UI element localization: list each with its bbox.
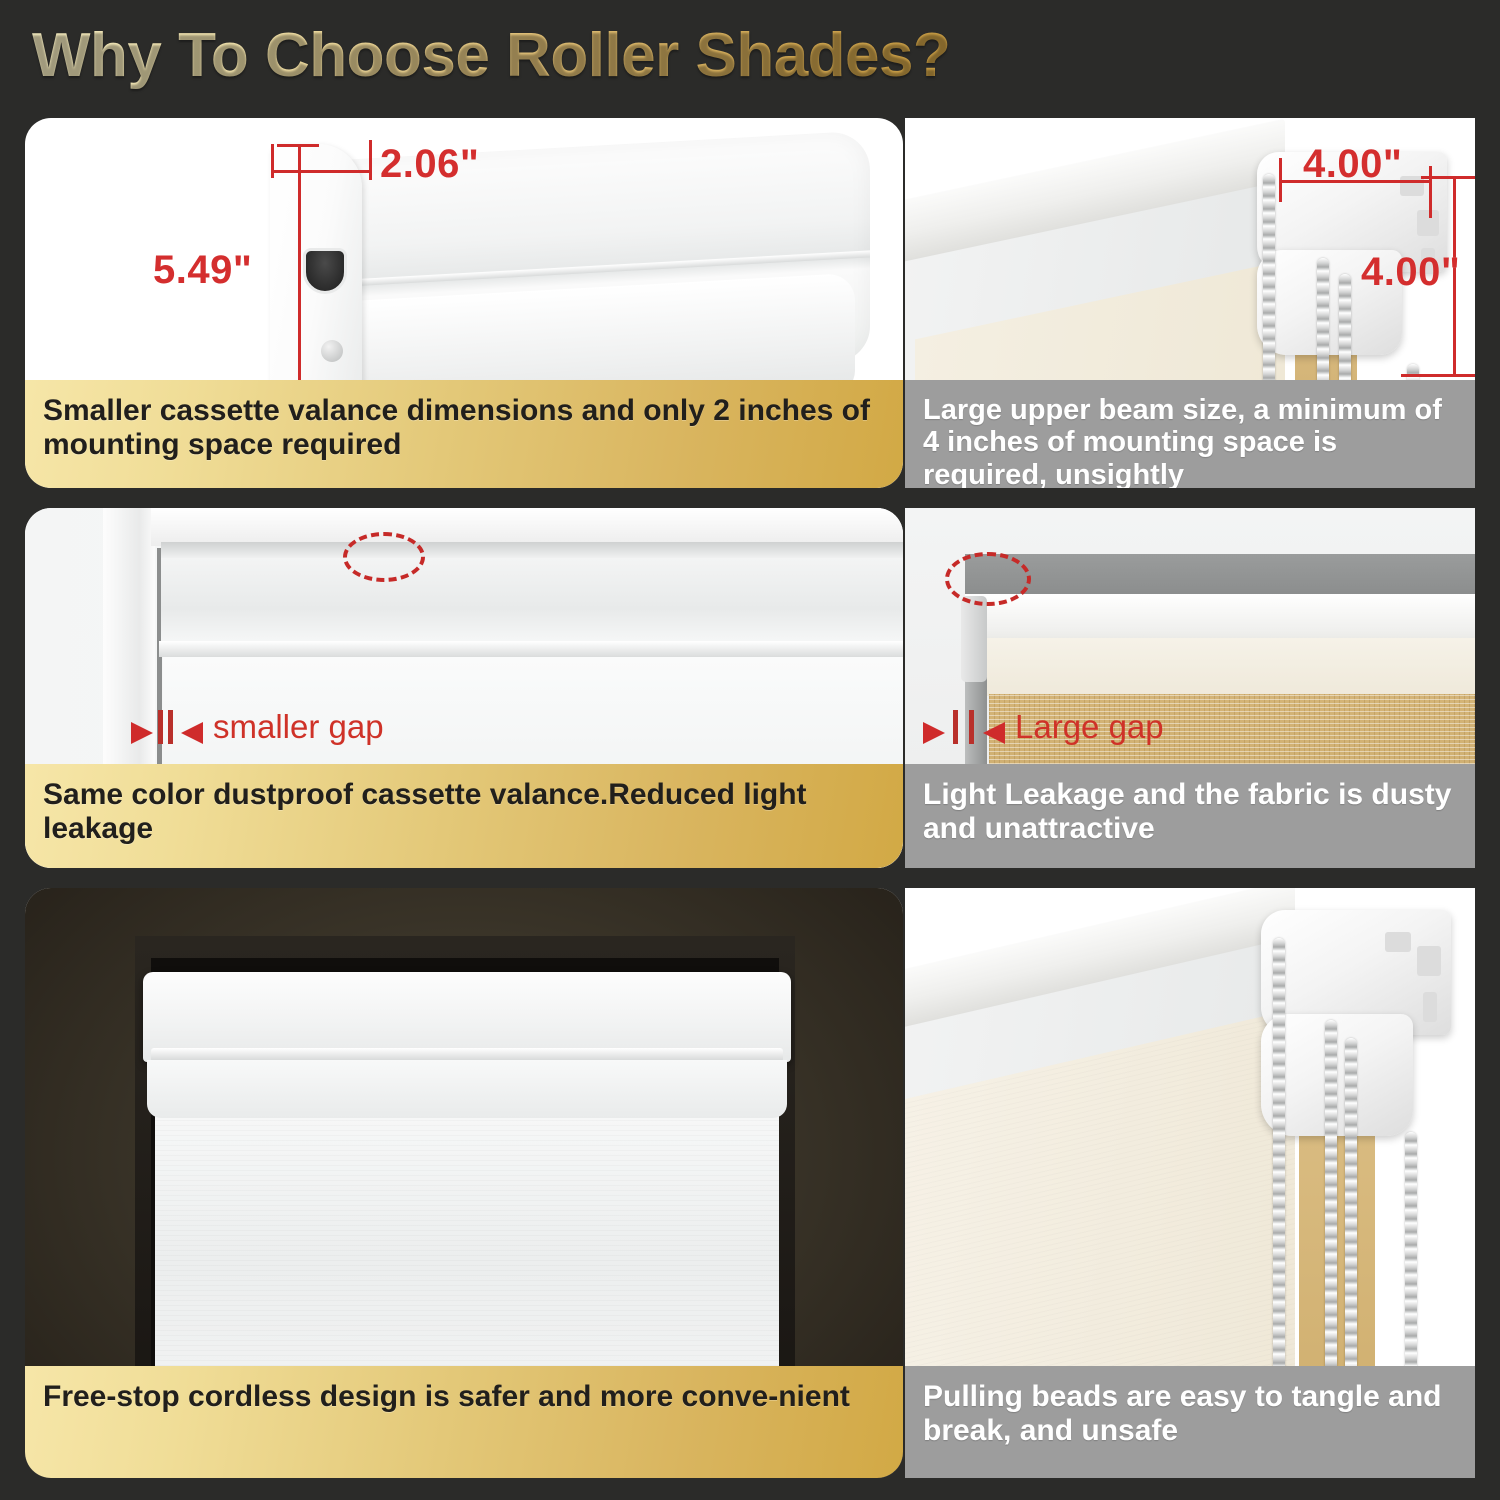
gap-arrow-right [983,722,1005,744]
panel-light-leakage: Large gap Light Leakage and the fabric i… [905,508,1475,868]
panel-smaller-cassette: 2.06" 5.49" Smaller cassette valance dim… [25,118,903,488]
headrail-cream-band [965,638,1475,696]
bracket-notch-3 [1423,992,1437,1022]
panel-1-caption: Smaller cassette valance dimensions and … [25,380,903,488]
panel-cordless-design: Free-stop cordless design is safer and m… [25,888,903,1478]
highlight-circle-large-gap [945,552,1031,606]
headrail-gray-top [965,554,1475,596]
dim-width-line [271,170,371,173]
gap-label-smaller: smaller gap [213,708,384,746]
shade-middle-rail [159,641,903,657]
dim2-width-label: 4.00" [1303,142,1402,187]
gap-arrow-right [181,722,203,744]
panel-5-caption: Free-stop cordless design is safer and m… [25,1366,903,1478]
dim2-height-top-tick [1421,176,1475,179]
panel-large-upper-beam: 4.00" 4.00" Large upper beam size, a min… [905,118,1475,488]
shade-end-bracket [961,596,987,682]
panel-4-caption: Light Leakage and the fabric is dusty an… [905,764,1475,868]
bracket-notch-2 [1417,946,1441,976]
shade-upper-section [161,558,903,643]
valance-screw-upper [321,340,343,362]
panel-2-caption: Large upper beam size, a minimum of 4 in… [905,380,1475,488]
dim-height-top-tick [277,144,319,147]
bracket-notch-1 [1400,176,1424,196]
dim2-height-label: 4.00" [1361,250,1460,295]
page-title: Why To Choose Roller Shades? [32,20,950,91]
gap-tick-1 [953,710,958,744]
cassette-valance-lower [147,1060,787,1118]
bracket-notch-1 [1385,932,1411,952]
dim-height-label: 5.49" [153,248,252,293]
dim2-width-right-tick [1429,166,1432,218]
dim-width-right-tick [369,140,372,180]
panel-3-caption: Same color dustproof cassette valance.Re… [25,764,903,868]
window-frame-top [151,508,903,546]
gap-tick-2 [168,710,173,744]
gap-arrow-left [131,722,153,744]
bracket-notch-2 [1417,210,1439,236]
gap-tick-1 [158,710,163,744]
gap-tick-2 [969,710,974,744]
dim-width-label: 2.06" [380,142,479,187]
panel-dustproof-valance: smaller gap Same color dustproof cassett… [25,508,903,868]
gap-label-large: Large gap [1015,708,1164,746]
panel-6-caption: Pulling beads are easy to tangle and bre… [905,1366,1475,1478]
dim2-height-bottom-tick [1401,374,1475,377]
shade-fabric [155,1116,779,1406]
gap-arrow-left [923,722,945,744]
valance-slot [303,248,347,294]
highlight-circle-smaller-gap [343,532,425,582]
panel-pulling-beads: Pulling beads are easy to tangle and bre… [905,888,1475,1478]
